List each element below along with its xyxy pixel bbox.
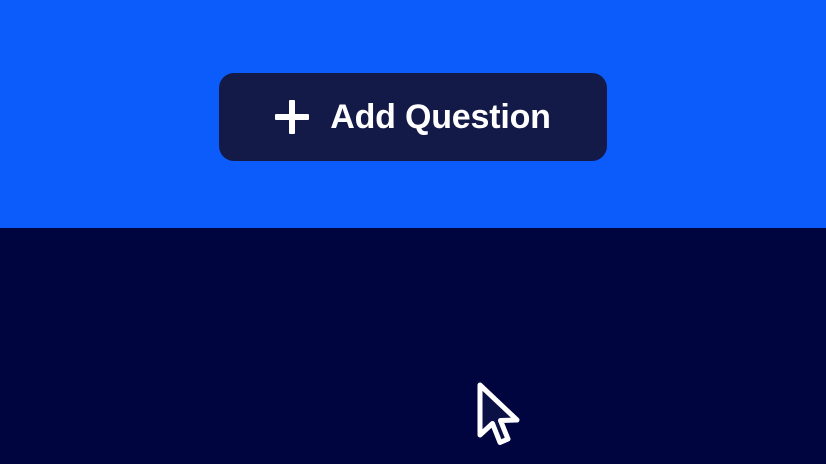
screen-root: Add Question Your expertise: * Select — [0, 0, 826, 464]
plus-icon — [275, 100, 309, 134]
add-question-button-label: Add Question — [330, 100, 550, 134]
form-panel: Your expertise: * Select — [0, 228, 826, 464]
add-question-button[interactable]: Add Question — [219, 73, 607, 161]
